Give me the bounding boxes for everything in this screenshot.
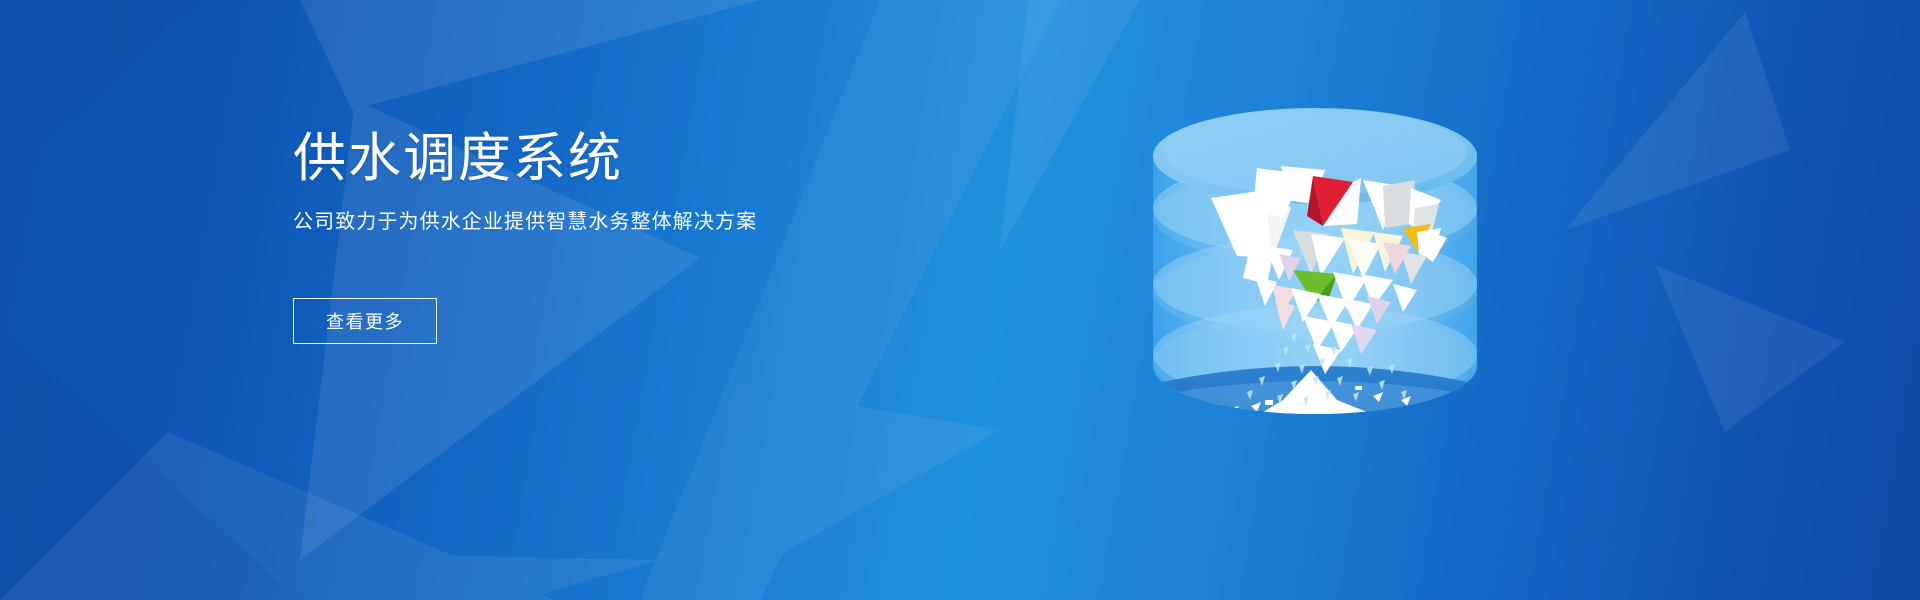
bg-triangle-right-lower [1655,265,1845,432]
bg-triangle-right-upper [1565,12,1790,230]
water-tank-illustration [1115,48,1515,448]
page-title: 供水调度系统 [293,128,1053,191]
view-more-button[interactable]: 查看更多 [293,298,437,344]
bg-triangle-dark-topleft [0,0,200,180]
bg-triangle-dark-bottomleft [0,330,300,600]
hero-banner: 供水调度系统 公司致力于为供水企业提供智慧水务整体解决方案 查看更多 [0,0,1920,600]
page-subtitle: 公司致力于为供水企业提供智慧水务整体解决方案 [293,205,1053,234]
banner-content: 供水调度系统 公司致力于为供水企业提供智慧水务整体解决方案 查看更多 [293,128,1053,344]
bg-triangle-topleft [300,0,760,110]
